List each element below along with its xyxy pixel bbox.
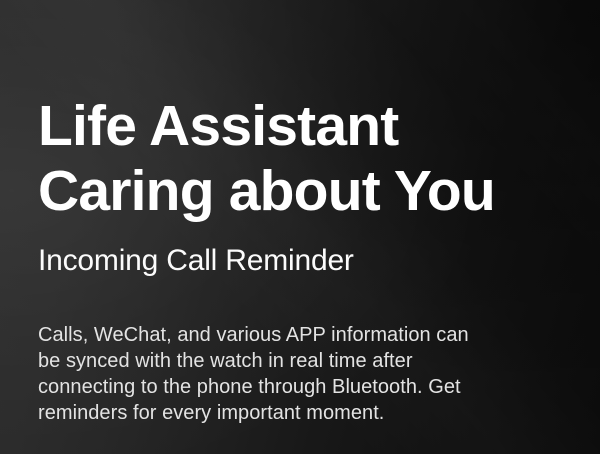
body-line-2: be synced with the watch in real time af… bbox=[38, 348, 584, 374]
headline: Life Assistant Caring about You bbox=[38, 94, 495, 224]
headline-line-1: Life Assistant bbox=[38, 94, 495, 159]
subtitle: Incoming Call Reminder bbox=[38, 242, 354, 280]
body-line-1: Calls, WeChat, and various APP informati… bbox=[38, 322, 584, 348]
body-line-3: connecting to the phone through Bluetoot… bbox=[38, 374, 584, 400]
banner-content: Life Assistant Caring about You Incoming… bbox=[38, 0, 600, 454]
headline-line-2: Caring about You bbox=[38, 159, 495, 224]
body-description: Calls, WeChat, and various APP informati… bbox=[38, 322, 584, 426]
body-line-4: reminders for every important moment. bbox=[38, 400, 584, 426]
promo-banner: Life Assistant Caring about You Incoming… bbox=[0, 0, 600, 454]
